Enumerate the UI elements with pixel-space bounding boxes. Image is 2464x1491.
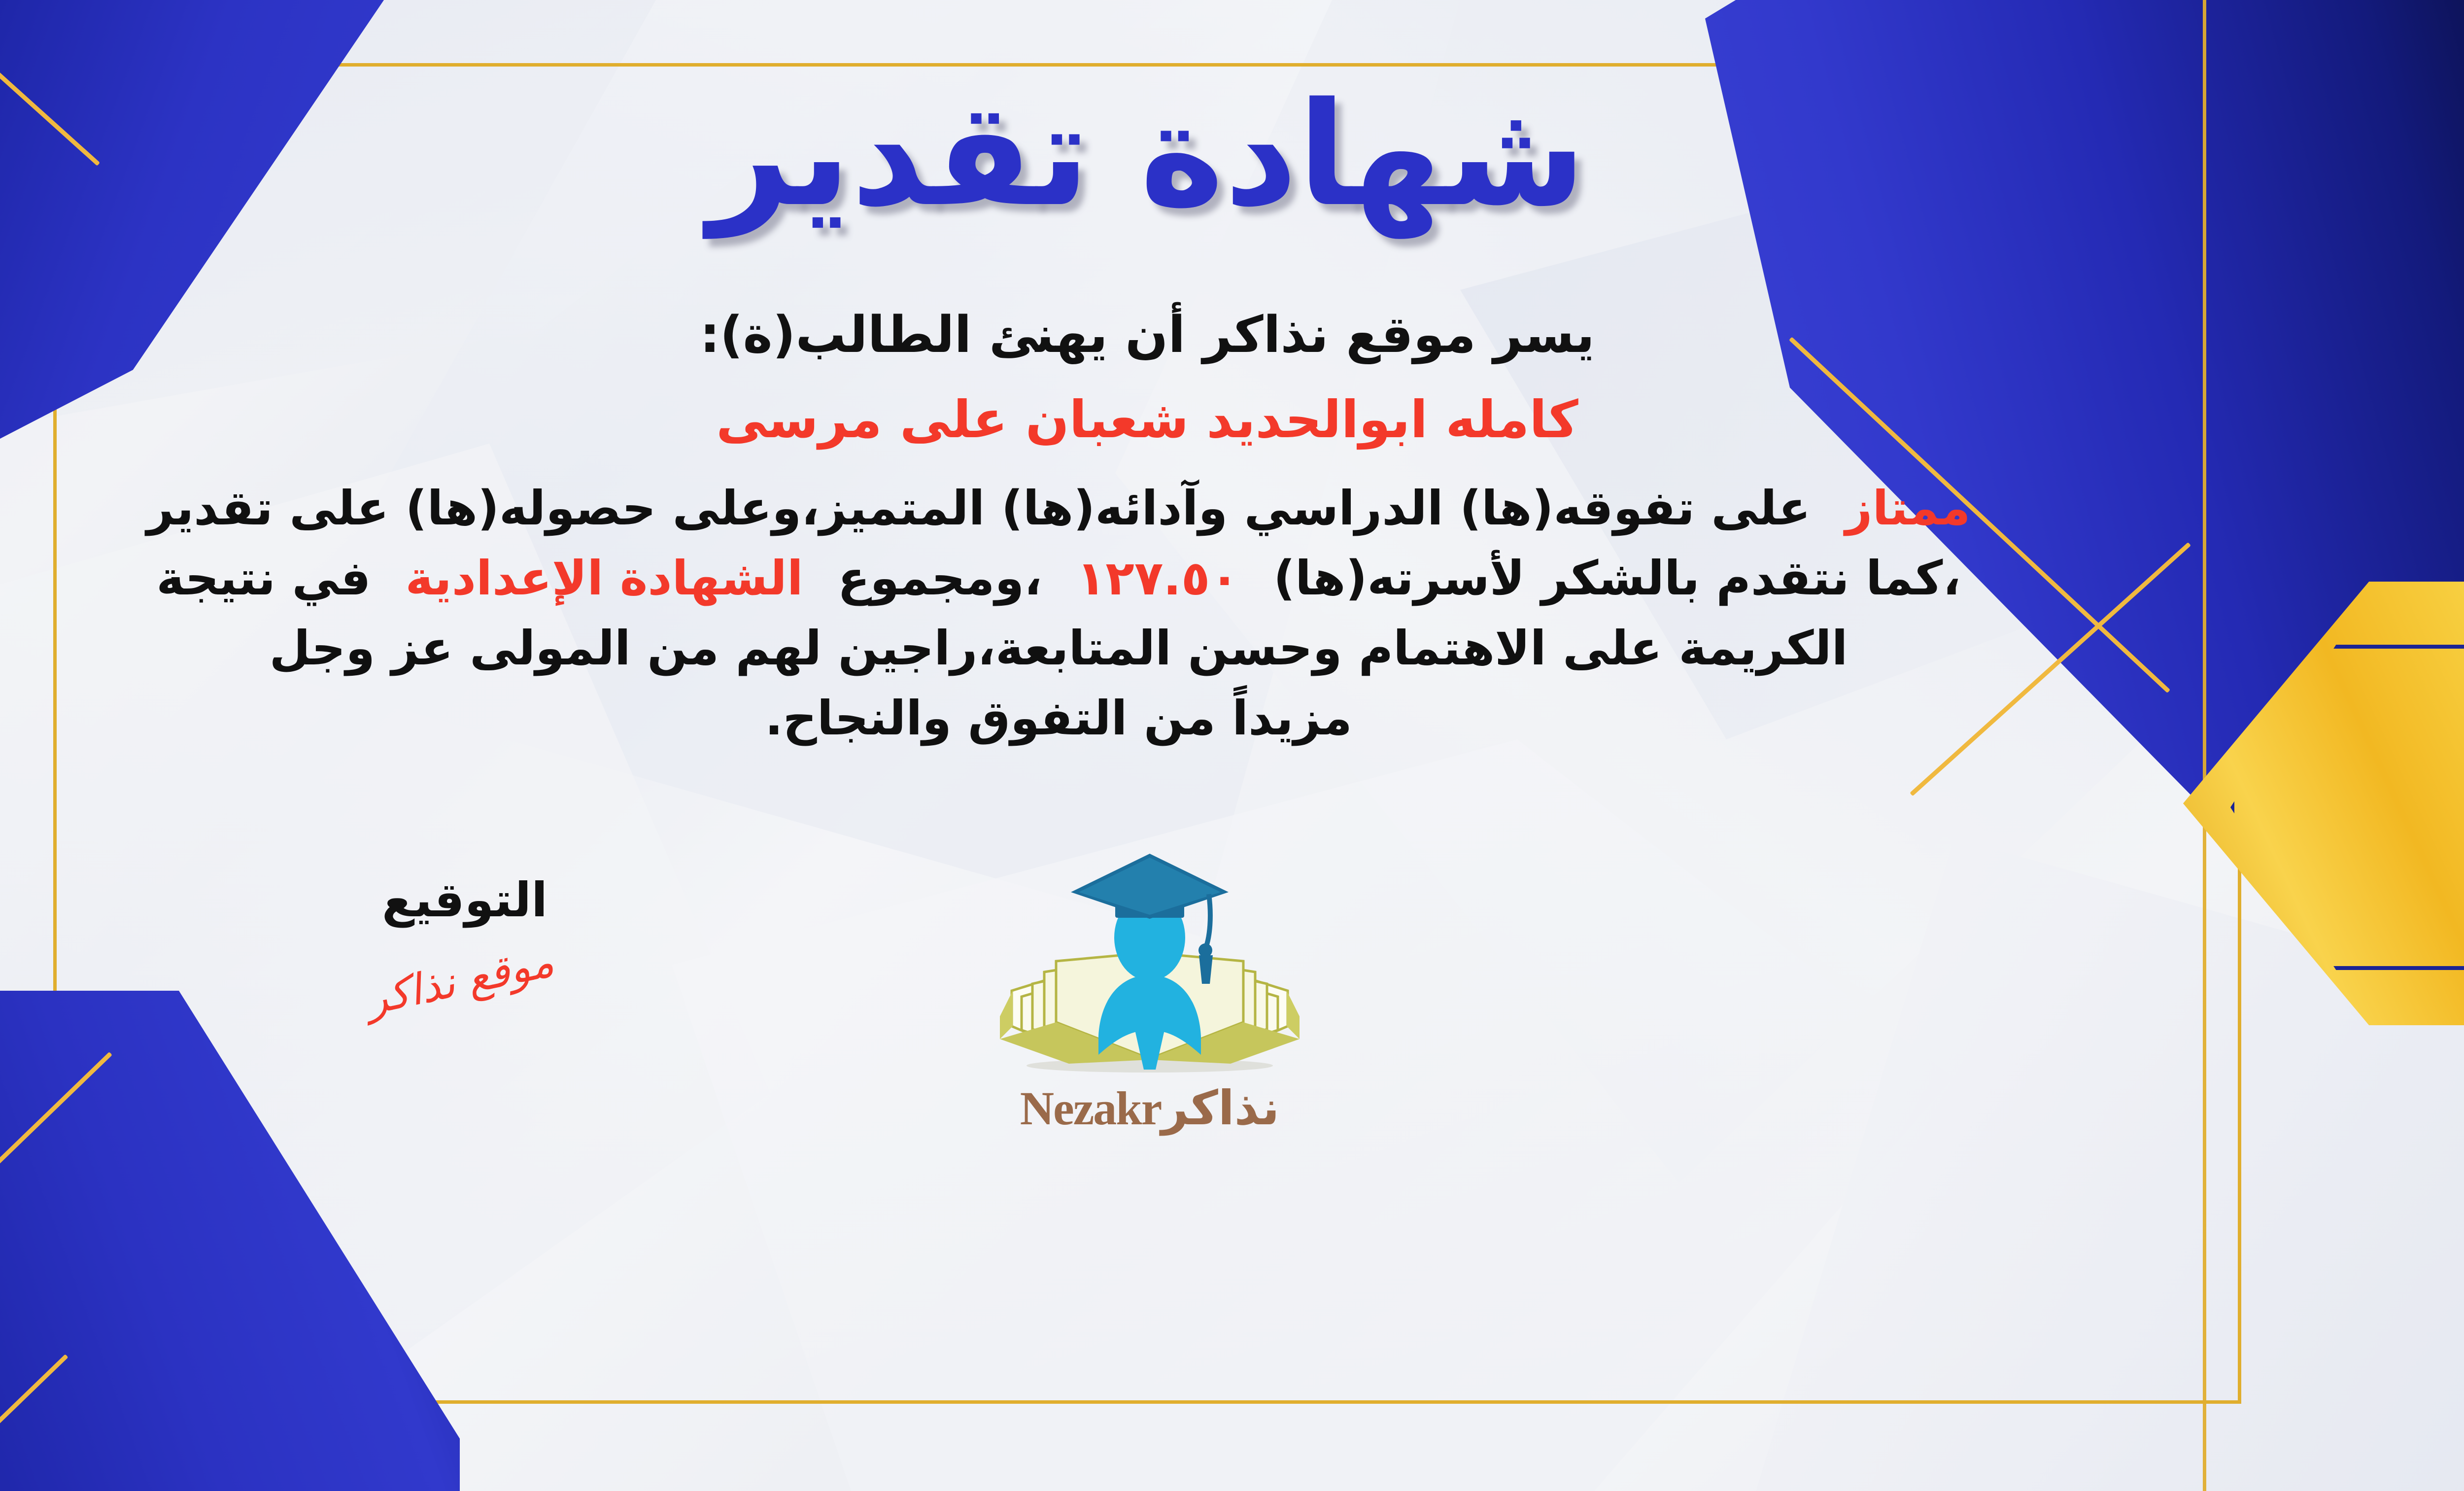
certificate-canvas: شهادة تقدير يسر موقع نذاكر أن يهنئ الطال… [0, 0, 2464, 1491]
body-paragraph: ممتازعلى تفوقه(ها) الدراسي وآدائه(ها) ال… [0, 473, 2224, 753]
blue-inner-outline [2230, 645, 2464, 970]
page-title: شهادة تقدير [80, 84, 2214, 227]
logo-name-latin: Nezakr [1020, 1082, 1162, 1135]
signature-handwritten: موقع نذاكر [296, 923, 624, 1039]
corner-ornament-right-gold [2183, 582, 2464, 1025]
paragraph-line-2: ،كما نتقدم بالشكر لأسرته(ها)١٢٧.٥٠،ومجمو… [0, 543, 2224, 613]
paragraph-line-4: مزيداً من التفوق والنجاح. [0, 683, 2224, 753]
paragraph-line-1: ممتازعلى تفوقه(ها) الدراسي وآدائه(ها) ال… [0, 473, 2224, 543]
gold-chevron-shape [2183, 582, 2464, 1025]
graduate-book-icon [953, 843, 1347, 1089]
student-name: كامله ابوالحديد شعبان على مرسى [80, 389, 2214, 450]
signature-label: التوقيع [292, 872, 637, 928]
paragraph-line-2-text-b: ،ومجموع [838, 551, 1042, 606]
paragraph-line-1-text: على تفوقه(ها) الدراسي وآدائه(ها) المتميز… [146, 481, 1811, 536]
paragraph-line-2-text-a: في نتيجة [156, 551, 371, 606]
brand-logo: نذاكرNezakr [953, 843, 1347, 1158]
lead-line: يسر موقع نذاكر أن يهنئ الطالب(ة): [80, 306, 2214, 364]
logo-wordmark: نذاكرNezakr [953, 1080, 1347, 1136]
gold-hairline [0, 1354, 68, 1491]
certificate-content: شهادة تقدير يسر موقع نذاكر أن يهنئ الطال… [80, 74, 2214, 1395]
logo-name-arabic: نذاكر [1161, 1080, 1279, 1136]
certificate-type-value: الشهادة الإعدادية [405, 551, 803, 606]
grade-value: ممتاز [1845, 481, 1970, 536]
paragraph-line-3: الكريمة على الاهتمام وحسن المتابعة،راجين… [0, 613, 2224, 683]
paragraph-line-2-text-c: ،كما نتقدم بالشكر لأسرته(ها) [1273, 551, 1961, 606]
total-score-value: ١٢٧.٥٠ [1077, 551, 1239, 606]
